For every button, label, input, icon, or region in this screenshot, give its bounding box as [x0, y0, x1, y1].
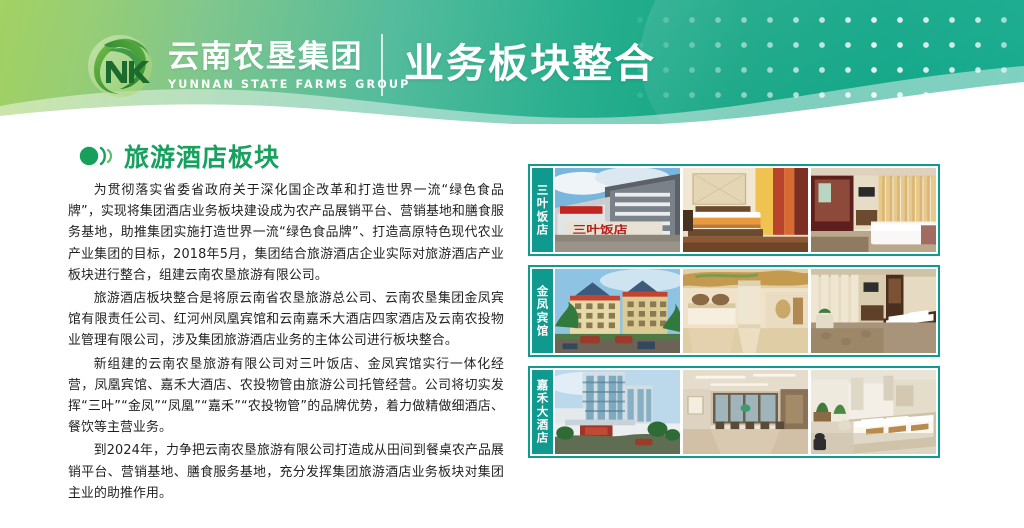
paragraph: 为贯彻落实省委省政府关于深化国企改革和打造世界一流“绿色食品牌”，实现将集团酒店…	[68, 180, 504, 286]
page-title: 业务板块整合	[404, 32, 656, 96]
gallery-row-label: 三叶饭店	[532, 168, 553, 252]
svg-text:三叶饭店: 三叶饭店	[573, 223, 628, 236]
gallery-row: 嘉禾大酒店	[528, 366, 940, 458]
header-divider	[381, 34, 383, 96]
paragraph: 旅游酒店板块整合是将原云南省农垦旅游总公司、云南农垦集团金凤宾馆有限责任公司、红…	[68, 288, 504, 352]
jiahe-hotel-guestroom-photo[interactable]	[811, 370, 936, 454]
jiahe-hotel-restaurant-photo[interactable]	[683, 370, 808, 454]
gallery-row-photos	[555, 370, 936, 454]
sanye-hotel-guestroom-suite-photo[interactable]	[811, 168, 936, 252]
brand-text-block: 云南农垦集团 YUNNAN STATE FARMS GROUP	[168, 41, 411, 92]
hotel-photo-gallery: 三叶饭店	[528, 164, 940, 458]
sanye-hotel-exterior-photo[interactable]: 三叶饭店	[555, 168, 680, 252]
brand-name-cn: 云南农垦集团	[168, 41, 411, 74]
jiahe-hotel-exterior-photo[interactable]	[555, 370, 680, 454]
gallery-row-photos: 三叶饭店	[555, 168, 936, 252]
section-heading: 旅游酒店板块	[76, 138, 280, 174]
jinfeng-hotel-lobby-photo[interactable]	[683, 269, 808, 353]
sanye-hotel-guestroom-double-photo[interactable]	[683, 168, 808, 252]
gallery-row-label: 嘉禾大酒店	[532, 370, 553, 454]
gallery-row-photos	[555, 269, 936, 353]
company-logo-icon	[82, 31, 158, 101]
broadcast-dot-icon	[76, 144, 116, 168]
brand-name-en: YUNNAN STATE FARMS GROUP	[168, 78, 411, 91]
gallery-row-label: 金凤宾馆	[532, 269, 553, 353]
section-heading-label: 旅游酒店板块	[124, 138, 280, 174]
jinfeng-hotel-exterior-photo[interactable]	[555, 269, 680, 353]
paragraph: 到2024年，力争把云南农垦旅游有限公司打造成从田间到餐桌农产品展销平台、营销基…	[68, 440, 504, 504]
brand-lockup: 云南农垦集团 YUNNAN STATE FARMS GROUP	[82, 30, 411, 102]
jinfeng-hotel-guestroom-photo[interactable]	[811, 269, 936, 353]
article-body: 为贯彻落实省委省政府关于深化国企改革和打造世界一流“绿色食品牌”，实现将集团酒店…	[68, 180, 504, 506]
gallery-row: 金凤宾馆	[528, 265, 940, 357]
gallery-row: 三叶饭店	[528, 164, 940, 256]
page-header: 云南农垦集团 YUNNAN STATE FARMS GROUP 业务板块整合	[0, 0, 1024, 124]
paragraph: 新组建的云南农垦旅游有限公司对三叶饭店、金凤宾馆实行一体化经营，凤凰宾馆、嘉禾大…	[68, 354, 504, 439]
